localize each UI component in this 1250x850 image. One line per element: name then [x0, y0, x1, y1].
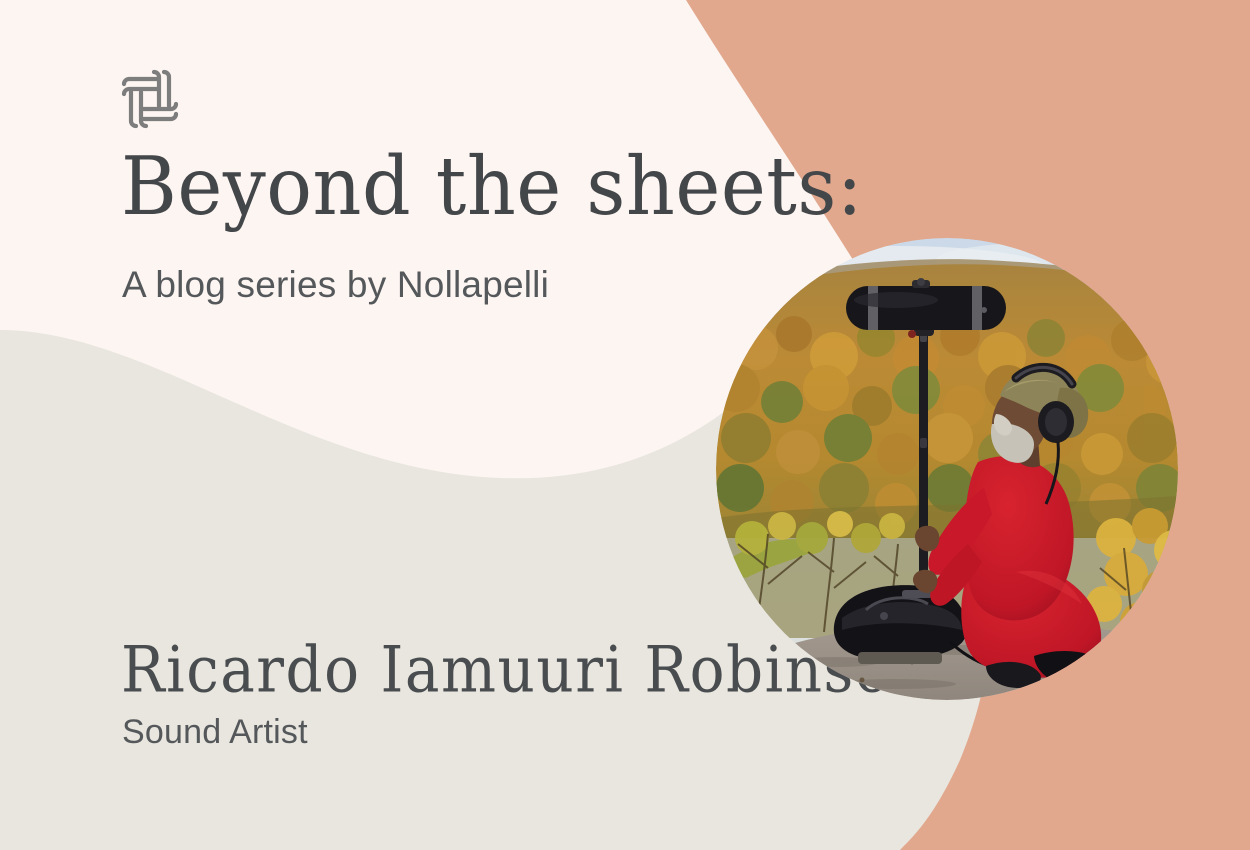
blog-promo-card: Beyond the sheets: A blog series by Noll… — [0, 0, 1250, 850]
person-role: Sound Artist — [122, 713, 308, 752]
page-title: Beyond the sheets: — [121, 146, 881, 227]
portrait-illustration — [716, 238, 1178, 700]
nollapelli-logo-icon[interactable] — [120, 68, 180, 130]
page-subtitle: A blog series by Nollapelli — [122, 264, 549, 306]
portrait-photo-circle — [716, 238, 1178, 700]
